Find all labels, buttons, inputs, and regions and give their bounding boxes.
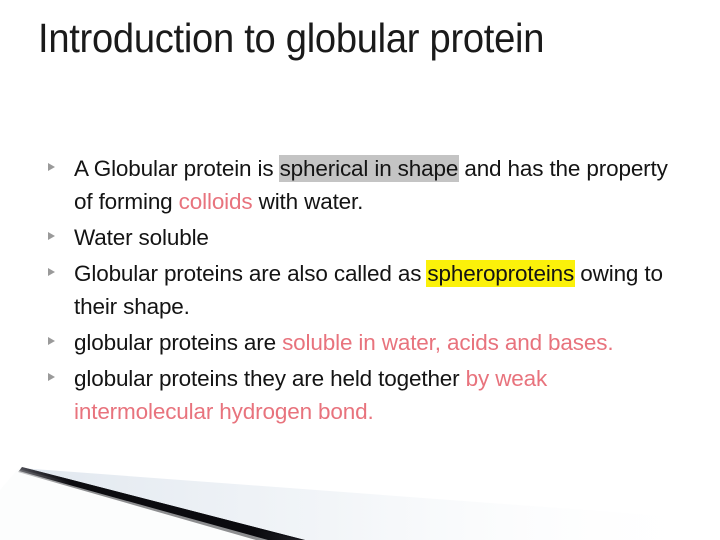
text-run-highlight-yellow: spheroproteins xyxy=(427,261,574,286)
bullet-4-text: globular proteins are soluble in water, … xyxy=(74,326,684,359)
bottom-decoration xyxy=(0,450,720,540)
text-run-plain: with water. xyxy=(253,189,364,214)
bullet-5-text: globular proteins they are held together… xyxy=(74,362,684,428)
text-run-plain: globular proteins they are held together xyxy=(74,366,466,391)
bullet-list: A Globular protein is spherical in shape… xyxy=(44,152,684,431)
text-run-plain: Globular proteins are also called as xyxy=(74,261,427,286)
triangle-right-icon xyxy=(48,232,55,240)
list-item: Water soluble xyxy=(44,221,684,254)
bullet-1-text: A Globular protein is spherical in shape… xyxy=(74,152,684,218)
text-run-red: soluble in water, acids and bases. xyxy=(282,330,613,355)
list-item: globular proteins are soluble in water, … xyxy=(44,326,684,359)
text-run-plain: A Globular protein is xyxy=(74,156,280,181)
page-title: Introduction to globular protein xyxy=(38,12,615,64)
triangle-right-icon xyxy=(48,268,55,276)
bullet-3-text: Globular proteins are also called as sph… xyxy=(74,257,684,323)
triangle-right-icon xyxy=(48,337,55,345)
bullet-2-text: Water soluble xyxy=(74,221,684,254)
list-item: A Globular protein is spherical in shape… xyxy=(44,152,684,218)
list-item: globular proteins they are held together… xyxy=(44,362,684,428)
triangle-right-icon xyxy=(48,163,55,171)
text-run-highlight-gray: spherical in shape xyxy=(280,156,459,181)
text-run-plain: globular proteins are xyxy=(74,330,282,355)
text-run-red: colloids xyxy=(179,189,253,214)
list-item: Globular proteins are also called as sph… xyxy=(44,257,684,323)
triangle-right-icon xyxy=(48,373,55,381)
text-run-plain: Water soluble xyxy=(74,225,209,250)
slide: Introduction to globular protein A Globu… xyxy=(0,0,720,540)
diagonal-swoosh-icon xyxy=(0,450,720,540)
